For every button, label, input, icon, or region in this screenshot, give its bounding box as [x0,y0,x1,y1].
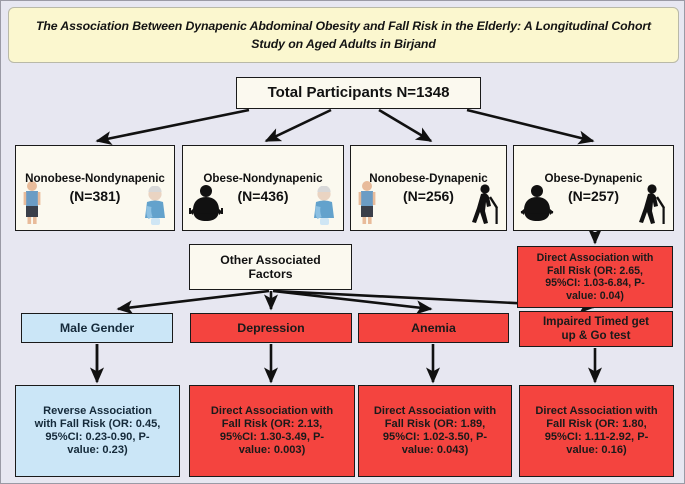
group-count-4: (N=257) [545,188,643,205]
result-line-4: value: 0.04) [566,290,624,303]
group-box-obese-dynapenic[interactable]: Obese-Dynapenic (N=257) [513,145,674,231]
depression-result-line-1: Direct Association with [211,405,333,418]
group-box-nonobese-dynapenic[interactable]: Nonobese-Dynapenic (N=256) [350,145,507,231]
factor-label-anemia[interactable]: Anemia [358,313,509,343]
anemia-result-line-2: Fall Risk (OR: 1.89, [385,418,486,431]
figure-title-banner: The Association Between Dynapenic Abdomi… [8,7,679,63]
result-line-1: Direct Association with [537,252,654,265]
factor-label-text-4a: Impaired Timed get [543,315,649,329]
factor-label-impaired-timed-up-and-go[interactable]: Impaired Timed get up & Go test [519,311,673,347]
factor-label-text-2: Depression [237,321,304,336]
depression-result-line-2: Fall Risk (OR: 2.13, [222,418,323,431]
arrow-total-to-group2 [266,110,331,141]
factor-label-depression[interactable]: Depression [190,313,352,343]
result-box-depression[interactable]: Direct Association with Fall Risk (OR: 2… [189,385,355,477]
anemia-result-line-1: Direct Association with [374,405,496,418]
male-gender-result-line-2: with Fall Risk (OR: 0.45, [35,418,161,431]
factor-label-male-gender[interactable]: Male Gender [21,313,173,343]
group-count-3: (N=256) [369,188,488,205]
group-name-2: Obese-Nondynapenic [203,172,322,186]
result-line-3: 95%CI: 1.03-6.84, P- [545,277,645,290]
arrow-total-to-group1 [97,110,249,141]
depression-result-line-4: value: 0.003) [239,444,306,457]
timedupgo-result-line-1: Direct Association with [535,405,657,418]
factor-label-text-3: Anemia [411,321,456,336]
group-name-1: Nonobese-Nondynapenic [25,172,165,186]
male-gender-result-line-4: value: 0.23) [67,444,127,457]
total-participants-label: Total Participants N=1348 [268,84,450,102]
male-gender-result-line-3: 95%CI: 0.23-0.90, P- [45,431,149,444]
arrow-total-to-group3 [379,110,431,141]
other-factors-line-1: Other Associated [220,253,320,267]
timedupgo-result-line-2: Fall Risk (OR: 1.80, [546,418,647,431]
factor-label-text-4b: up & Go test [562,329,631,343]
other-factors-line-2: Factors [248,267,292,281]
result-box-impaired-timed-up-and-go[interactable]: Direct Association with Fall Risk (OR: 1… [519,385,674,477]
result-box-male-gender[interactable]: Reverse Association with Fall Risk (OR: … [15,385,180,477]
factor-label-text-1: Male Gender [60,321,134,336]
group-count-2: (N=436) [203,188,322,205]
flowchart-canvas: The Association Between Dynapenic Abdomi… [0,0,685,484]
timedupgo-result-line-4: value: 0.16) [566,444,626,457]
anemia-result-line-4: value: 0.043) [402,444,469,457]
figure-title: The Association Between Dynapenic Abdomi… [23,17,664,54]
group-box-nonobese-nondynapenic[interactable]: Nonobese-Nondynapenic (N=381) [15,145,175,231]
group-name-4: Obese-Dynapenic [545,172,643,186]
total-participants-box[interactable]: Total Participants N=1348 [236,77,481,109]
group-count-1: (N=381) [25,188,165,205]
anemia-result-line-3: 95%CI: 1.02-3.50, P- [383,431,487,444]
other-associated-factors-box[interactable]: Other Associated Factors [189,244,352,290]
male-gender-result-line-1: Reverse Association [43,405,152,418]
arrow-total-to-group4 [467,110,593,141]
depression-result-line-3: 95%CI: 1.30-3.49, P- [220,431,324,444]
arrow-oaf-to-male-gender [118,291,269,309]
result-line-2: Fall Risk (OR: 2.65, [547,265,643,278]
result-box-obese-dynapenic[interactable]: Direct Association with Fall Risk (OR: 2… [517,246,673,308]
timedupgo-result-line-3: 95%CI: 1.11-2.92, P- [545,431,649,444]
group-box-obese-nondynapenic[interactable]: Obese-Nondynapenic (N=436) [182,145,344,231]
arrow-oaf-to-anemia [273,291,431,309]
group-name-3: Nonobese-Dynapenic [369,172,488,186]
result-box-anemia[interactable]: Direct Association with Fall Risk (OR: 1… [358,385,512,477]
